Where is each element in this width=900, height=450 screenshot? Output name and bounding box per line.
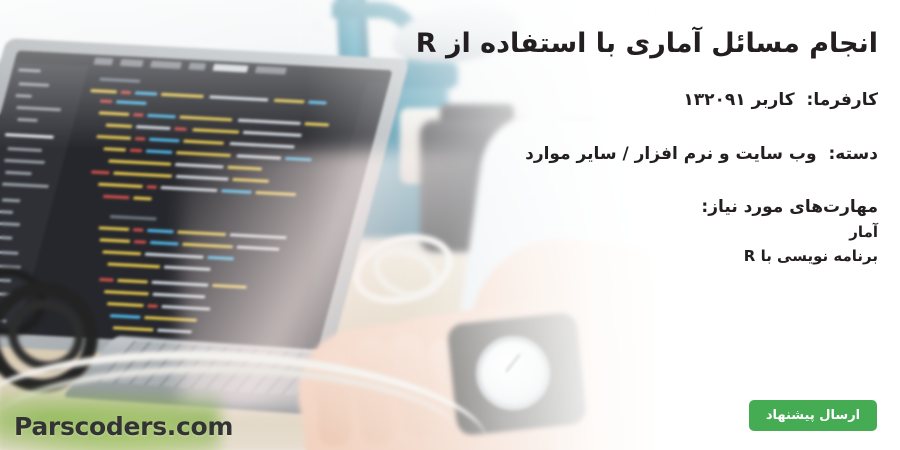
project-title: انجام مسائل آماری با استفاده از R <box>118 27 878 61</box>
category-row: دسته: وب سایت و نرم افزار / سایر موارد <box>525 144 878 164</box>
photo-wristwatch-face <box>476 336 550 410</box>
skill-item[interactable]: برنامه نویسی با R <box>118 244 878 268</box>
category-label: دسته: <box>829 144 879 164</box>
employer-label: کارفرما: <box>807 90 878 110</box>
skills-section: مهارت‌های مورد نیاز: آمار برنامه نویسی ب… <box>118 194 878 268</box>
employer-row: کارفرما: کاربر ۱۳۲۰۹۱ <box>683 90 878 110</box>
skills-title: مهارت‌های مورد نیاز: <box>118 194 878 220</box>
site-watermark: Parscoders.com <box>14 412 233 441</box>
submit-proposal-button[interactable]: ارسال پیشنهاد <box>749 400 877 431</box>
category-value[interactable]: وب سایت و نرم افزار / سایر موارد <box>525 144 816 164</box>
skill-item[interactable]: آمار <box>118 220 878 244</box>
project-card: انجام مسائل آماری با استفاده از R کارفرم… <box>0 0 900 450</box>
employer-value[interactable]: کاربر ۱۳۲۰۹۱ <box>683 90 794 110</box>
